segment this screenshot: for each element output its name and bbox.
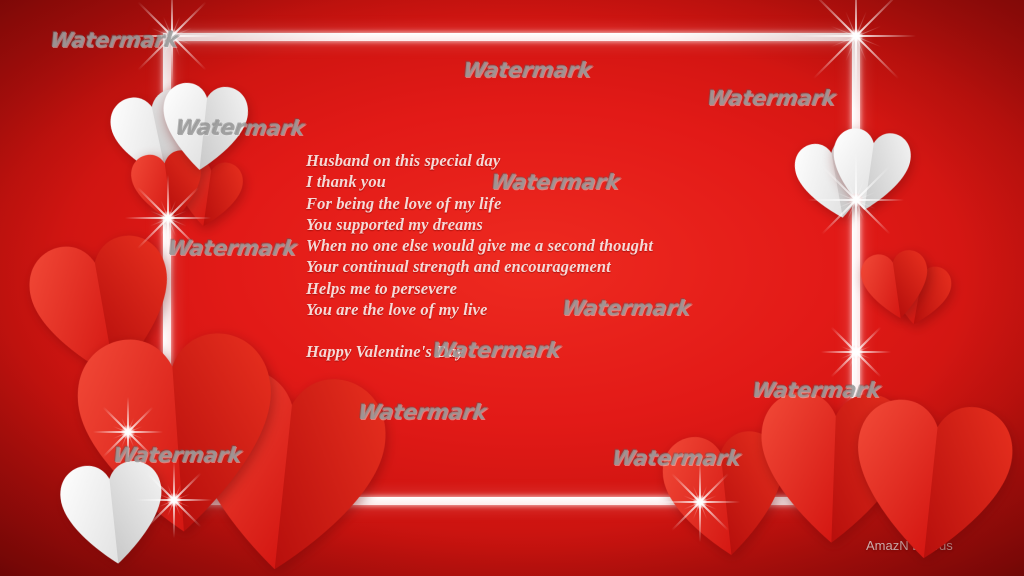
poem-line: I thank you bbox=[306, 171, 806, 192]
poem-spacer bbox=[306, 320, 806, 341]
poem-text: Husband on this special day I thank you … bbox=[306, 150, 806, 363]
watermark-text: Watermark bbox=[48, 28, 180, 52]
heart-white-right-front-icon bbox=[823, 123, 918, 218]
watermark-text: Watermark bbox=[461, 58, 593, 82]
valentine-ecard: Husband on this special day I thank you … bbox=[0, 0, 1024, 576]
poem-line: Husband on this special day bbox=[306, 150, 806, 171]
poem-line: When no one else would give me a second … bbox=[306, 235, 806, 256]
poem-line: Your continual strength and encouragemen… bbox=[306, 256, 806, 277]
poem-line: Helps me to persevere bbox=[306, 278, 806, 299]
poem-line: For being the love of my life bbox=[306, 193, 806, 214]
heart-red-bottom-far-icon bbox=[840, 390, 1024, 571]
frame-border-top bbox=[163, 33, 860, 41]
poem-line: You supported my dreams bbox=[306, 214, 806, 235]
watermark-text: Watermark bbox=[166, 236, 298, 260]
poem-line: You are the love of my live bbox=[306, 299, 806, 320]
heart-red-right-small-a-icon bbox=[855, 245, 936, 324]
poem-closing: Happy Valentine's Day bbox=[306, 341, 806, 362]
heart-white-left-front-icon bbox=[154, 77, 255, 176]
sparkle-top-left-corner-icon bbox=[124, 0, 220, 84]
watermark-text: Watermark bbox=[705, 86, 837, 110]
heart-white-bottom-left-icon bbox=[53, 455, 173, 572]
